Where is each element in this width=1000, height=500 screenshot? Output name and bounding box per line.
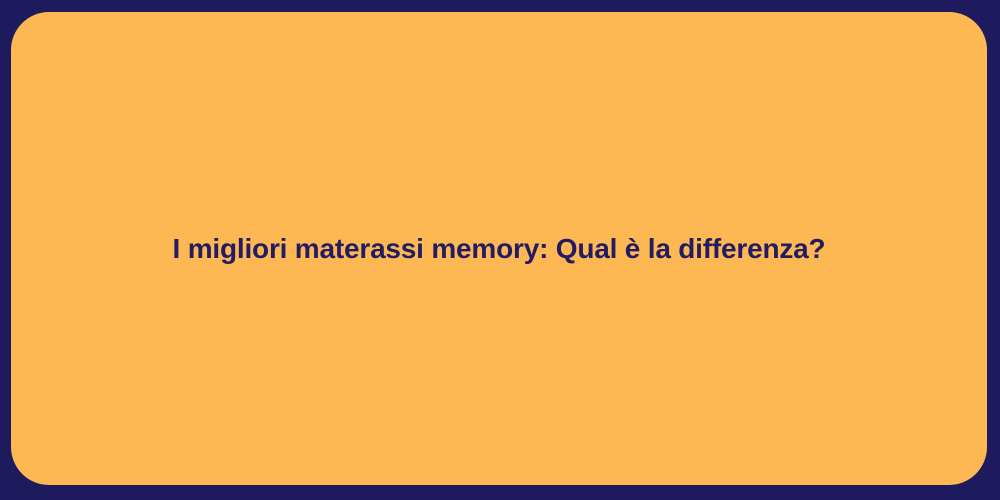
banner-card: I migliori materassi memory: Qual è la d… (0, 0, 1000, 500)
page-title: I migliori materassi memory: Qual è la d… (133, 231, 866, 266)
banner-panel: I migliori materassi memory: Qual è la d… (11, 12, 987, 485)
